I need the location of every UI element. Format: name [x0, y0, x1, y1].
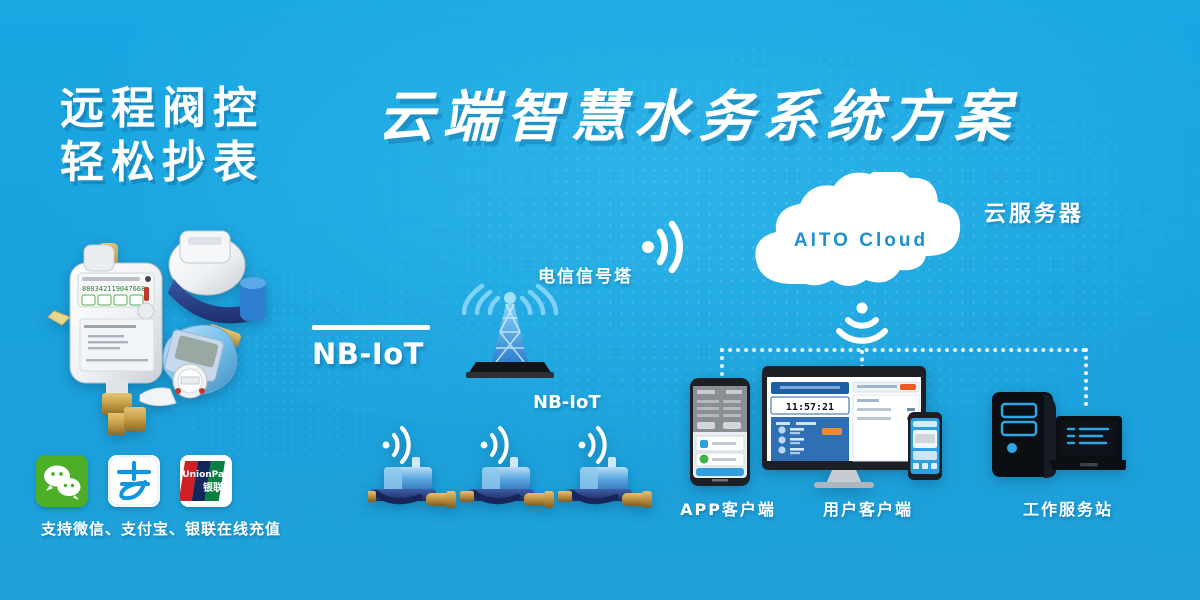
svg-text:UnionPay: UnionPay: [182, 470, 230, 480]
payment-caption: 支持微信、支付宝、银联在线充值: [26, 518, 296, 539]
nbiot-secondary-label: NB-IoT: [533, 392, 601, 413]
cloud-server-graphic: AITO Cloud: [742, 172, 1002, 302]
work-station-label: 工作服务站: [1008, 496, 1128, 520]
svg-text:银联: 银联: [203, 481, 223, 494]
cloud-name: AITO Cloud: [742, 230, 980, 252]
wifi-signal-icon-down: [832, 300, 892, 355]
app-client-device: [690, 378, 750, 491]
app-client-label: APP客户端: [668, 496, 788, 520]
user-client-device: 11:57:21: [762, 366, 962, 493]
wifi-signal-icon-right: [636, 218, 698, 281]
nbiot-underline: [312, 325, 430, 330]
meter-product-cluster: 880342119047668: [40, 225, 310, 455]
slogan-line-2: 轻松抄表: [60, 136, 380, 190]
nbiot-primary-label: NB-IoT: [312, 325, 430, 371]
slogan-line-1: 远程阀控: [60, 82, 380, 136]
unionpay-icon: UnionPay 银联: [180, 455, 232, 507]
poster-canvas: 远程阀控 轻松抄表 云端智慧水务系统方案: [0, 0, 1200, 600]
meter-products-illustration: 880342119047668: [40, 225, 310, 455]
nbiot-primary-text: NB-IoT: [312, 337, 430, 371]
connector-bus: [720, 348, 1086, 352]
slogan-block: 远程阀控 轻松抄表: [60, 82, 380, 190]
cloud-server-label: 云服务器: [984, 196, 1084, 228]
svg-text:880342119047668: 880342119047668: [82, 285, 145, 293]
wechat-pay-icon: [36, 455, 88, 507]
field-meters-group: [368, 415, 668, 525]
alipay-icon: [108, 455, 160, 507]
user-client-label: 用户客户端: [808, 496, 928, 520]
telecom-tower-icon: [462, 270, 562, 380]
work-station-device: [986, 386, 1126, 491]
payment-icons-row: UnionPay 银联: [36, 455, 286, 507]
page-title: 云端智慧水务系统方案: [378, 86, 1018, 150]
svg-text:11:57:21: 11:57:21: [786, 402, 834, 413]
